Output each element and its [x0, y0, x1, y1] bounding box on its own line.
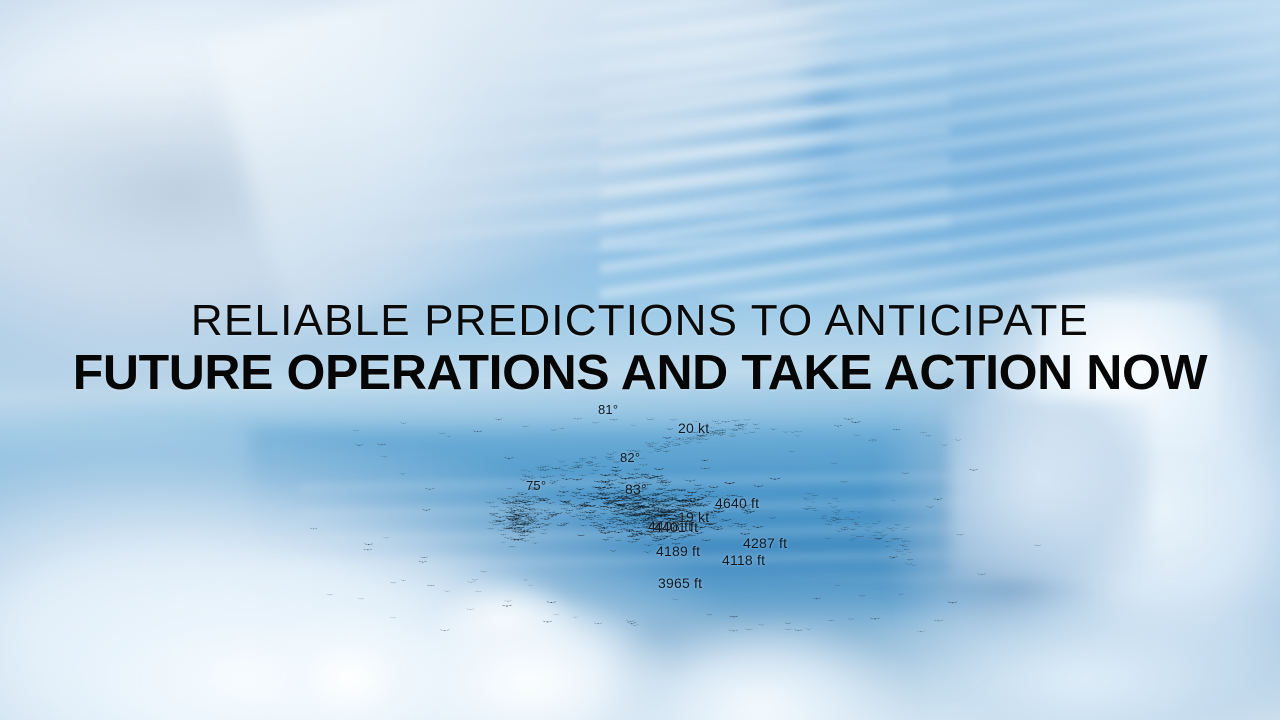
telemetry-label: 4118 ft	[722, 552, 765, 568]
telemetry-label: 82°	[620, 450, 640, 465]
cumulus-lump-lower	[950, 400, 1150, 580]
telemetry-label: 75°	[526, 478, 546, 493]
telemetry-label: 4189 ft	[656, 543, 700, 559]
telemetry-label: 4401 ft	[654, 519, 698, 535]
telemetry-label: 83°	[625, 481, 647, 497]
scene-canvas: 81°20 kt82°75°83°4640 ft19 kt4408 ft4401…	[0, 0, 1280, 720]
telemetry-label: 81°	[598, 402, 618, 417]
telemetry-label: 4640 ft	[715, 495, 759, 511]
telemetry-label: 20 kt	[678, 420, 709, 436]
cloud-bump-right	[600, 620, 920, 720]
telemetry-label: 3965 ft	[658, 575, 702, 591]
telemetry-label: 4287 ft	[743, 535, 787, 551]
